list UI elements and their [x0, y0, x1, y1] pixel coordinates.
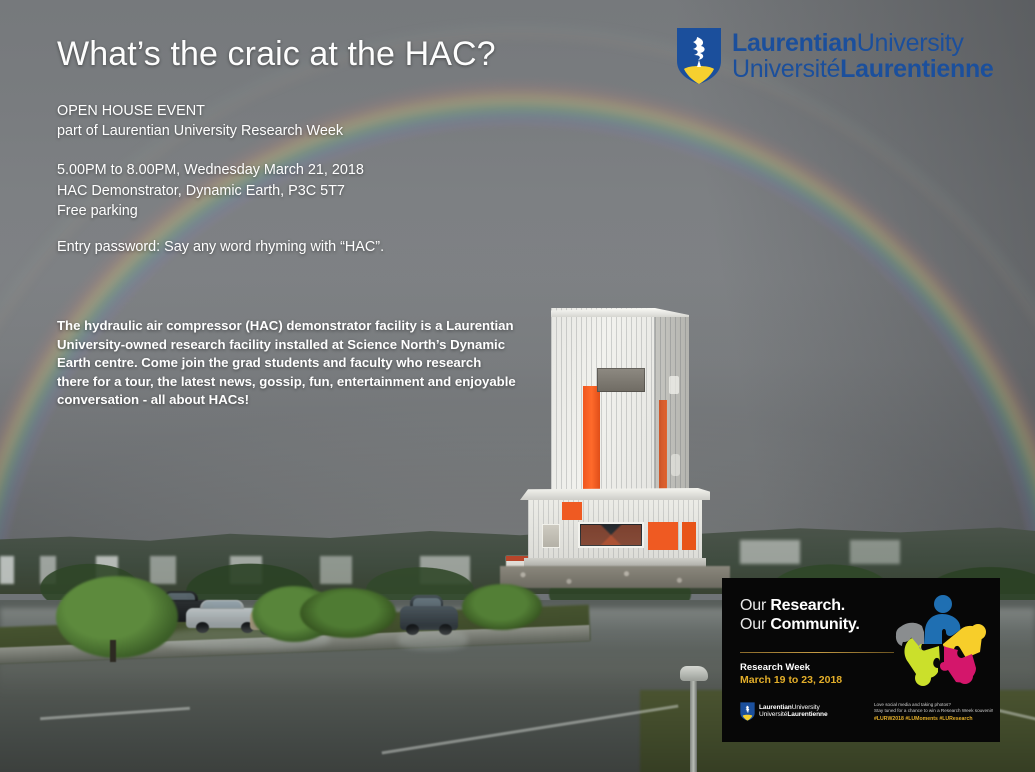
puzzle-piece-lime — [905, 638, 940, 686]
badge-headline: Our Research. Our Community. — [740, 596, 890, 634]
badge-logo-universite: Université — [759, 711, 787, 718]
gravel-apron — [500, 566, 730, 588]
description-block: The hydraulic air compressor (HAC) demon… — [57, 317, 517, 410]
base-orange-panel-2 — [648, 522, 678, 550]
badge-headline-line2: Our Community. — [740, 615, 890, 634]
event-subtitle-line: part of Laurentian University Research W… — [57, 121, 343, 141]
badge-our-2: Our — [740, 616, 770, 633]
lamp-head — [680, 666, 708, 681]
event-type-line: OPEN HOUSE EVENT — [57, 101, 343, 121]
foreground-tree — [56, 576, 178, 658]
badge-subtitle: Research Week March 19 to 23, 2018 — [740, 662, 842, 687]
badge-laurentian-logo: LaurentianUniversity UniversitéLaurentie… — [740, 702, 828, 721]
base-door — [542, 524, 560, 548]
rainbow — [0, 0, 1035, 580]
base-orange-panel-3 — [682, 522, 696, 550]
laurentian-university-logo: LaurentianUniversity UniversitéLaurentie… — [676, 27, 1006, 85]
logo-line-french: UniversitéLaurentienne — [732, 57, 994, 82]
logo-university-light: University — [857, 29, 964, 57]
foreground-tree — [462, 584, 542, 630]
badge-logo-line-french: UniversitéLaurentienne — [759, 712, 828, 719]
logo-laurentienne-bold: Laurentienne — [840, 55, 993, 83]
badge-wordmark: LaurentianUniversity UniversitéLaurentie… — [759, 705, 828, 718]
parked-car — [400, 606, 458, 630]
description-text: The hydraulic air compressor (HAC) demon… — [57, 317, 517, 410]
poster: What’s the craic at the HAC? OPEN HOUSE … — [0, 0, 1035, 772]
base-orange-panel-1 — [562, 502, 582, 520]
badge-divider — [740, 652, 894, 653]
badge-fine-print: Love social media and taking photos? Sta… — [874, 702, 994, 723]
lamp-post — [690, 676, 697, 772]
tower-vent-upper — [669, 376, 679, 394]
event-location: HAC Demonstrator, Dynamic Earth, P3C 5T7 — [57, 181, 364, 202]
badge-dates: March 19 to 23, 2018 — [740, 674, 842, 687]
logo-laurentian-bold: Laurentian — [732, 29, 857, 57]
tower-vent-lower — [671, 454, 680, 476]
badge-headline-line1: Our Research. — [740, 596, 890, 615]
base-window — [578, 522, 644, 548]
foreground-tree — [300, 588, 396, 638]
laurentian-shield-icon — [676, 27, 722, 85]
badge-our-1: Our — [740, 597, 770, 614]
page-title: What’s the craic at the HAC? — [57, 35, 496, 74]
car-window — [203, 601, 240, 608]
puzzle-people-icon — [890, 592, 994, 692]
entry-password: Entry password: Say any word rhyming wit… — [57, 237, 384, 257]
car-reflection — [398, 630, 468, 650]
base-roof — [520, 488, 710, 500]
research-week-badge: Our Research. Our Community. Research We… — [722, 578, 1000, 742]
badge-research-word: Research. — [770, 597, 845, 614]
entry-password-block: Entry password: Say any word rhyming wit… — [57, 237, 384, 257]
car-window — [413, 598, 441, 606]
logo-line-english: LaurentianUniversity — [732, 31, 994, 56]
badge-fine-line2: Stay tuned for a chance to win a Researc… — [874, 708, 994, 714]
event-time: 5.00PM to 8.00PM, Wednesday March 21, 20… — [57, 160, 364, 181]
badge-shield-icon — [740, 702, 755, 721]
rainbow-primary-arc — [0, 0, 1035, 580]
event-parking: Free parking — [57, 201, 364, 222]
event-details-block: 5.00PM to 8.00PM, Wednesday March 21, 20… — [57, 160, 364, 222]
tower-gray-panel — [597, 368, 645, 392]
badge-hashtags: #LURW2018 #LUMoments #LUResearch — [874, 715, 994, 723]
laurentian-wordmark: LaurentianUniversity UniversitéLaurentie… — [732, 31, 994, 82]
badge-community-word: Community. — [770, 616, 859, 633]
tower-base-building — [520, 488, 710, 570]
badge-logo-laurentienne: Laurentienne — [787, 711, 827, 718]
logo-universite-light: Université — [732, 55, 840, 83]
badge-research-week-label: Research Week — [740, 662, 842, 674]
tree-trunk — [110, 640, 116, 662]
event-type-block: OPEN HOUSE EVENT part of Laurentian Univ… — [57, 101, 343, 141]
